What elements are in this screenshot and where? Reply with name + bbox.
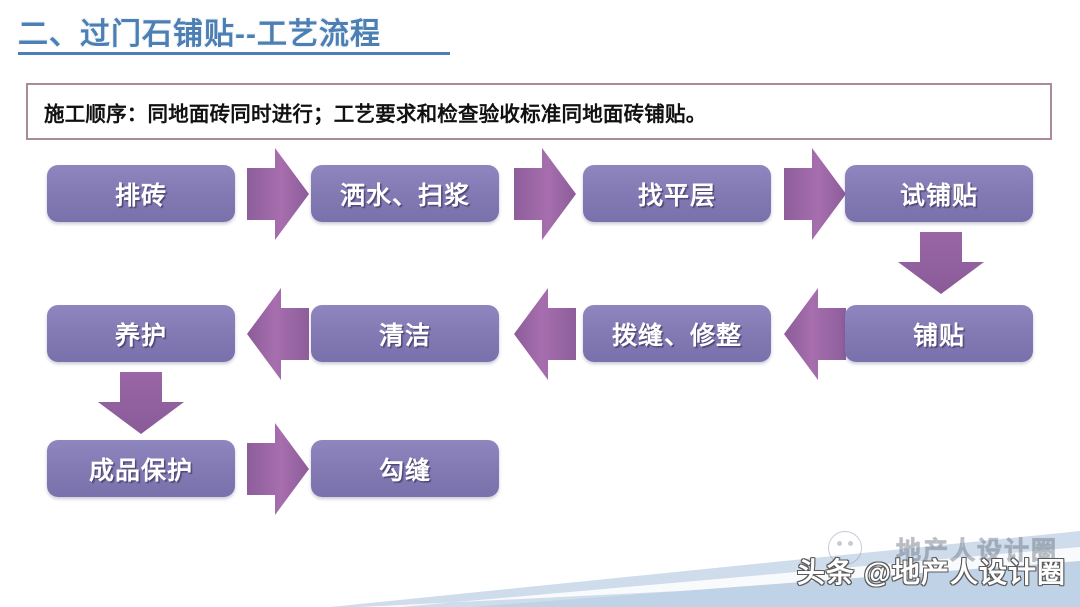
flow-step-putie[interactable]: 铺贴	[845, 305, 1033, 362]
flow-step-goufeng[interactable]: 勾缝	[311, 440, 499, 497]
title-underline	[18, 52, 450, 55]
arrow-left-icon-2	[514, 288, 576, 380]
watermark: 头条 @地产人设计圈	[797, 551, 1066, 591]
arrow-left-icon-3	[784, 288, 846, 380]
flow-step-shipuntie[interactable]: 试铺贴	[845, 165, 1033, 222]
flow-step-yanghu[interactable]: 养护	[47, 305, 235, 362]
watermark-text: 头条 @地产人设计圈	[797, 551, 1066, 591]
arrow-down-icon-2	[98, 372, 184, 434]
flow-step-label: 试铺贴	[900, 176, 978, 212]
arrow-right-icon-2	[514, 148, 576, 240]
arrow-right-icon-3	[784, 148, 846, 240]
flow-step-label: 拨缝、修整	[612, 316, 742, 352]
flow-step-label: 成品保护	[89, 451, 193, 487]
slide-canvas: 二、过门石铺贴--工艺流程 施工顺序：同地面砖同时进行；工艺要求和检查验收标准同…	[0, 0, 1080, 607]
flow-step-label: 洒水、扫浆	[340, 176, 470, 212]
arrow-right-icon-4	[247, 423, 309, 515]
flow-step-paizhuan[interactable]: 排砖	[47, 165, 235, 222]
flow-step-label: 排砖	[115, 176, 167, 212]
flow-step-zhaopingceng[interactable]: 找平层	[583, 165, 771, 222]
flow-step-bofeng-xiuzheng[interactable]: 拨缝、修整	[583, 305, 771, 362]
flow-step-label: 找平层	[638, 176, 716, 212]
flow-step-label: 铺贴	[913, 316, 965, 352]
page-title: 二、过门石铺贴--工艺流程	[18, 9, 381, 53]
flow-step-label: 勾缝	[379, 451, 431, 487]
flow-step-chengpin-baohu[interactable]: 成品保护	[47, 440, 235, 497]
arrow-down-icon-1	[898, 232, 984, 294]
arrow-left-icon-1	[247, 288, 309, 380]
note-text: 施工顺序：同地面砖同时进行；工艺要求和检查验收标准同地面砖铺贴。	[44, 97, 706, 127]
flow-step-qingjie[interactable]: 清洁	[311, 305, 499, 362]
arrow-right-icon-1	[247, 148, 309, 240]
construction-sequence-note: 施工顺序：同地面砖同时进行；工艺要求和检查验收标准同地面砖铺贴。	[26, 83, 1052, 140]
flow-step-label: 清洁	[379, 316, 431, 352]
flow-step-sashui-saojiang[interactable]: 洒水、扫浆	[311, 165, 499, 222]
flow-step-label: 养护	[115, 316, 167, 352]
